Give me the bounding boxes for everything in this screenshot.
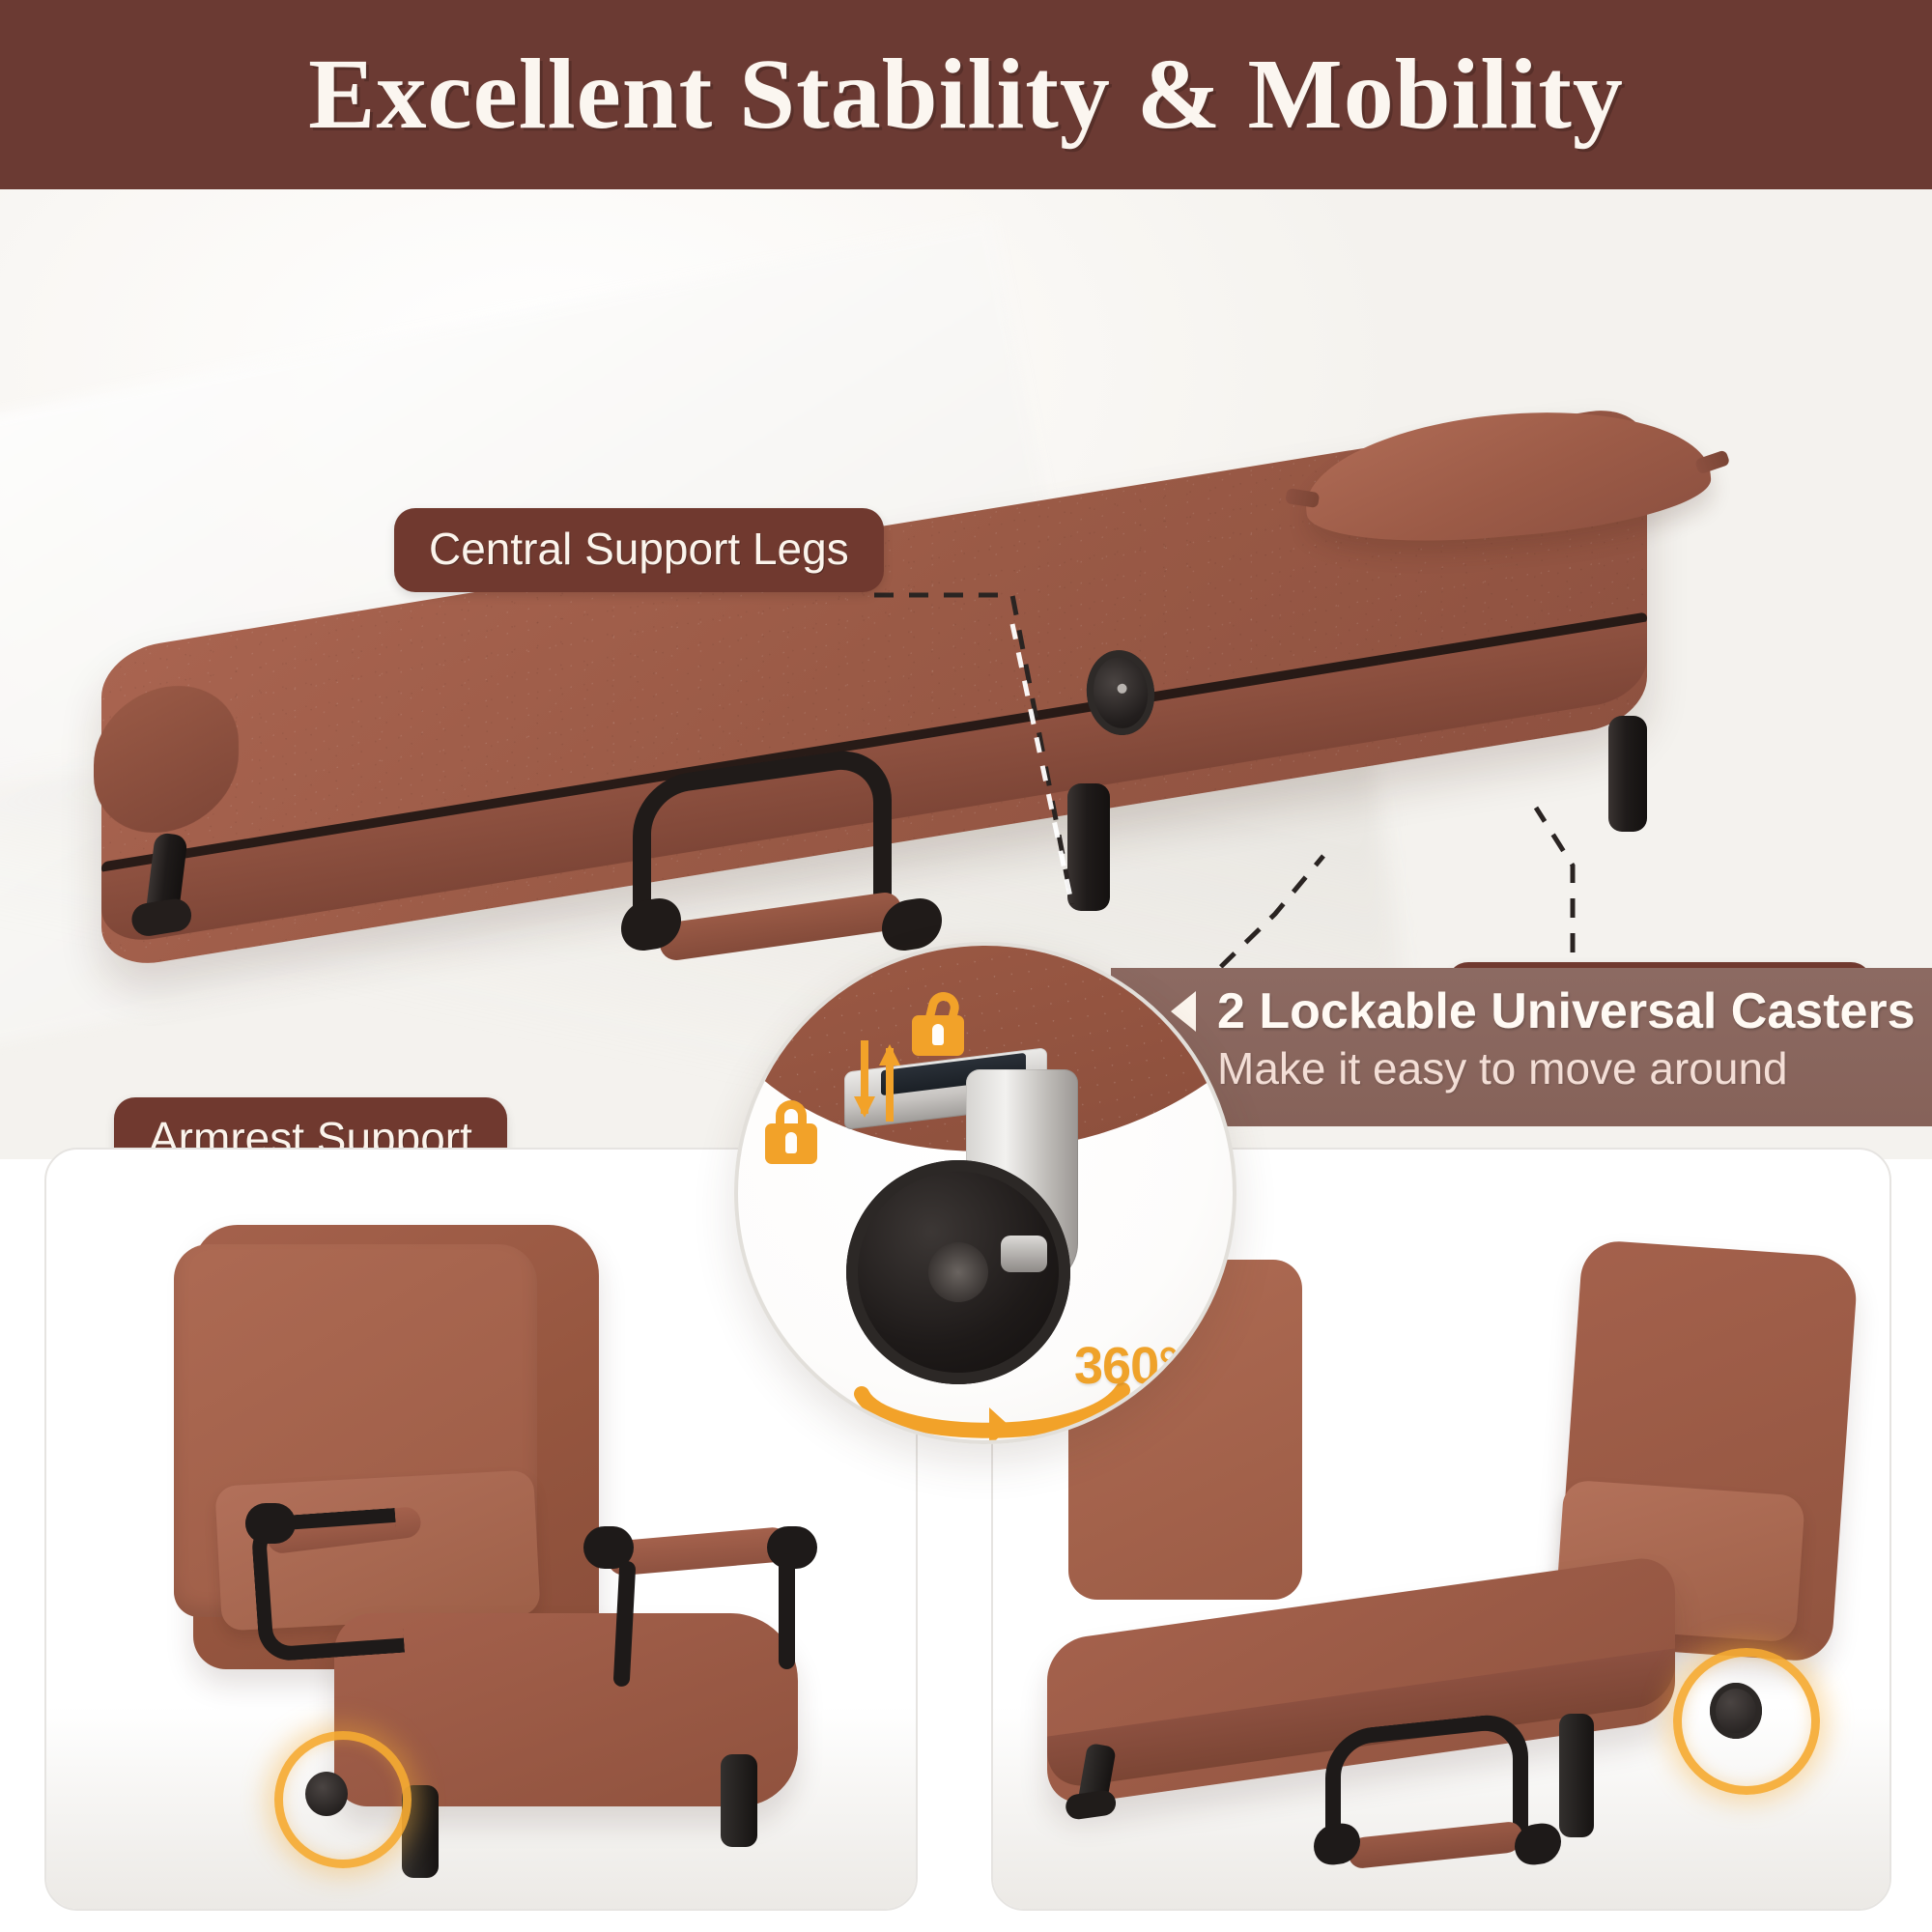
callout-central-support-legs[interactable]: Central Support Legs [394,508,884,592]
lock-open-icon [912,992,964,1056]
chair-armrest-post-rear [779,1553,795,1669]
lock-closed-icon [765,1100,817,1164]
page-title: Excellent Stability & Mobility [308,44,1624,145]
header-banner: Excellent Stability & Mobility [0,0,1932,189]
pillow [1299,397,1714,554]
up-down-arrows-icon [852,1040,902,1122]
chaise-central-support-leg [1559,1714,1594,1837]
end-support-leg-right [1608,716,1647,832]
caster-wheel-large [846,1160,1070,1384]
rotation-degrees-label: 360° [1074,1336,1179,1396]
caster-detail-circle: 360° [734,942,1236,1444]
product-armchair [153,1225,829,1862]
caster-highlight-ring [274,1731,412,1868]
caster-feature-band: 2 Lockable Universal Casters Make it eas… [1111,968,1932,1126]
callout-label: Central Support Legs [429,524,849,574]
chair-armrest-left-cap [245,1503,296,1544]
central-support-leg [1067,783,1110,911]
product-flat-bed [92,397,1753,938]
caster-highlight-ring [1673,1648,1820,1795]
caster-band-title: 2 Lockable Universal Casters [1217,985,1916,1038]
caster-axle [1001,1236,1047,1272]
caster-band-subtitle: Make it easy to move around [1217,1044,1922,1094]
chair-leg-rear [721,1754,757,1847]
infographic-page: Excellent Stability & Mobility [0,0,1932,1932]
